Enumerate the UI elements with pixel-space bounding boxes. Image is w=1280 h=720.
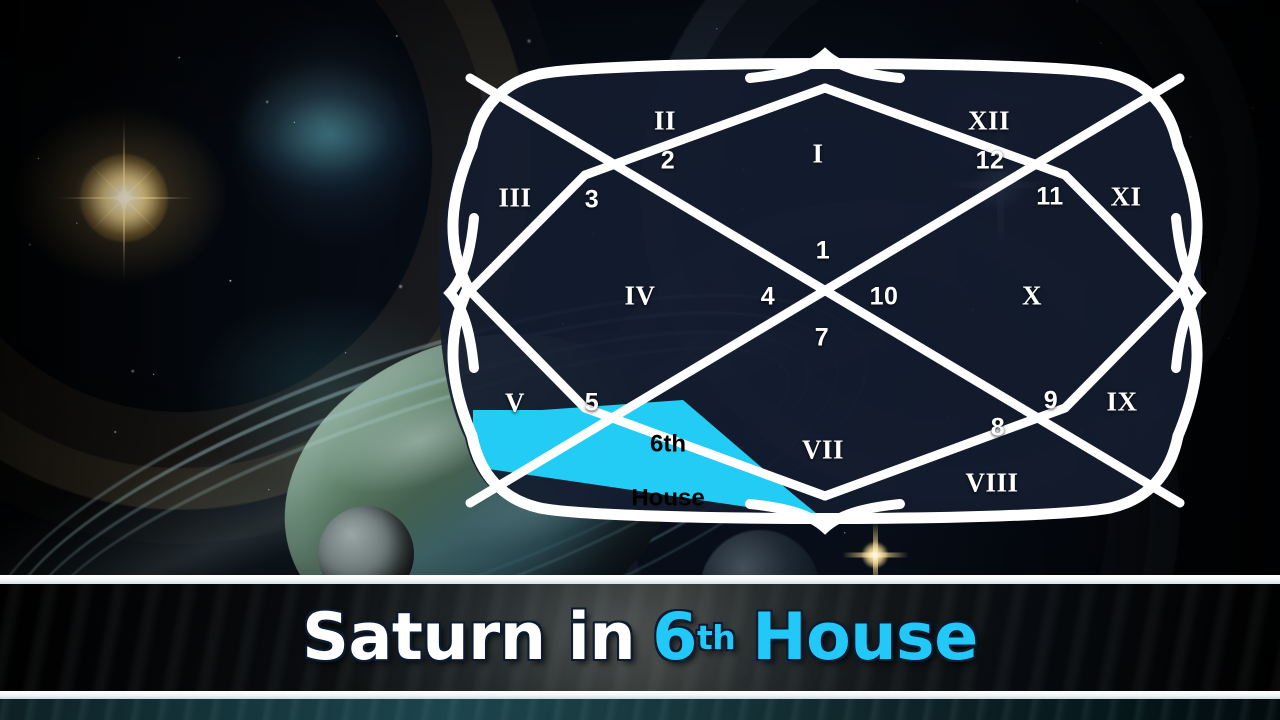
compass-star-icon: [34, 108, 214, 288]
house-6-label: 6th House: [631, 404, 704, 512]
house-roman-VIII: VIII: [965, 470, 1018, 497]
house-number-1: 1: [816, 239, 830, 264]
house-roman-X: X: [1022, 283, 1042, 310]
house-6-label-line1: 6th: [650, 430, 686, 457]
house-number-9: 9: [1044, 389, 1058, 414]
page-title: Saturn in6thHouse: [0, 584, 1280, 691]
screenshot-root: I II III IV V VII VIII IX X XI XII 1 2 3…: [0, 0, 1280, 720]
house-roman-VII: VII: [802, 437, 844, 464]
house-roman-I: I: [812, 141, 823, 168]
title-prefix: Saturn in: [302, 605, 635, 670]
house-roman-III: III: [498, 185, 531, 212]
house-number-8: 8: [991, 416, 1005, 441]
kundli-chart: I II III IV V VII VIII IX X XI XII 1 2 3…: [440, 48, 1210, 533]
house-number-2: 2: [661, 149, 675, 174]
title-banner: Saturn in6thHouse: [0, 584, 1280, 691]
house-number-12: 12: [976, 149, 1005, 174]
title-highlight-word: House: [752, 605, 978, 670]
house-roman-V: V: [505, 390, 525, 417]
house-6-label-line2: House: [631, 484, 704, 511]
footer-strip: [0, 699, 1280, 720]
footer-strip-streaks: [0, 699, 1280, 720]
title-highlight-number: 6: [652, 605, 697, 670]
house-roman-II: II: [654, 108, 676, 135]
house-roman-XI: XI: [1110, 184, 1141, 211]
house-roman-XII: XII: [968, 108, 1010, 135]
divider-below-title: [0, 691, 1280, 699]
house-number-5: 5: [585, 391, 599, 416]
house-number-11: 11: [1036, 185, 1063, 210]
house-number-10: 10: [870, 285, 899, 310]
house-number-7: 7: [815, 326, 829, 351]
house-number-3: 3: [585, 188, 599, 213]
divider-above-title: [0, 575, 1280, 584]
house-roman-IX: IX: [1106, 389, 1137, 416]
house-roman-IV: IV: [624, 283, 655, 310]
house-number-4: 4: [761, 285, 775, 310]
